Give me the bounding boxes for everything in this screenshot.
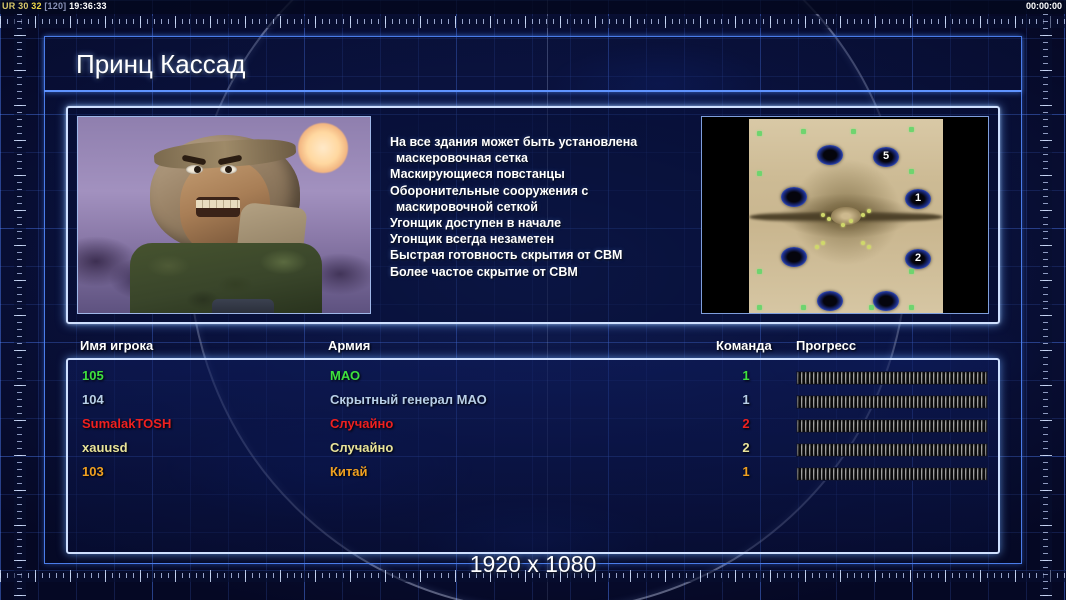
map-tech-marker (909, 169, 914, 174)
pupil-right (225, 166, 232, 173)
map-tech-marker (909, 305, 914, 310)
player-army: Скрытный генерал МАО (330, 392, 487, 407)
player-progress-bar (796, 467, 988, 481)
page-title: Принц Кассад (76, 49, 245, 80)
map-supply-marker (861, 213, 865, 217)
map-tech-marker (757, 269, 762, 274)
map-center-feature (831, 207, 861, 225)
general-info-panel: На все здания может быть установленамаск… (66, 106, 1000, 324)
ability-line: маскировочной сеткой (390, 199, 700, 215)
session-timer: 00:00:00 (1026, 1, 1062, 11)
ability-line: Угонщик доступен в начале (390, 215, 700, 231)
perf-value-1: 30 (18, 1, 28, 11)
player-table: 105МАО1104Скрытный генерал МАО1SumalakTO… (66, 358, 1000, 554)
map-spawn-point[interactable] (817, 145, 843, 165)
map-spawn-point[interactable] (781, 247, 807, 267)
player-name: xauusd (82, 440, 128, 455)
map-tech-marker (757, 171, 762, 176)
ruler-top (0, 16, 1066, 28)
map-supply-marker (849, 219, 853, 223)
player-army: Случайно (330, 416, 393, 431)
player-army: Китай (330, 464, 368, 479)
player-progress-bar (796, 371, 988, 385)
player-team: 1 (723, 464, 769, 479)
map-supply-marker (867, 245, 871, 249)
table-row[interactable]: 103Китай1 (68, 464, 998, 488)
ability-line: Более частое скрытие от СВМ (390, 264, 700, 280)
map-spawn-point[interactable]: 5 (873, 147, 899, 167)
weapon (212, 299, 274, 314)
teeth (196, 200, 240, 208)
player-progress-bar (796, 443, 988, 457)
player-progress-bar (796, 395, 988, 409)
player-team: 1 (723, 392, 769, 407)
perf-value-2: 32 (31, 1, 41, 11)
map-supply-marker (867, 209, 871, 213)
map-supply-marker (841, 223, 845, 227)
map-tech-marker (801, 305, 806, 310)
player-army: Случайно (330, 440, 393, 455)
ability-line: Маскирующиеся повстанцы (390, 166, 700, 182)
top-status-bar: UR 30 32 [120] 19:36:33 00:00:00 (0, 0, 1066, 14)
column-header-team[interactable]: Команда (716, 338, 772, 353)
ruler-left (14, 0, 26, 600)
map-spawn-point[interactable]: 1 (905, 189, 931, 209)
player-name: 104 (82, 392, 104, 407)
player-team: 2 (723, 440, 769, 455)
player-name: SumalakTOSH (82, 416, 171, 431)
map-tech-marker (851, 129, 856, 134)
ability-line: Угонщик всегда незаметен (390, 231, 700, 247)
ability-line: маскеровочная сетка (390, 150, 700, 166)
general-ability-list: На все здания может быть установленамаск… (390, 134, 700, 280)
map-tech-marker (909, 127, 914, 132)
system-clock: 19:36:33 (69, 1, 107, 11)
map-supply-marker (821, 213, 825, 217)
title-band: Принц Кассад (44, 36, 1022, 92)
map-preview[interactable]: 512 (701, 116, 989, 314)
mouth (196, 197, 240, 217)
player-team: 2 (723, 416, 769, 431)
table-row[interactable]: xauusdСлучайно2 (68, 440, 998, 464)
column-header-progress[interactable]: Прогресс (796, 338, 856, 353)
column-header-army[interactable]: Армия (328, 338, 370, 353)
map-tech-marker (869, 305, 874, 310)
map-supply-marker (861, 241, 865, 245)
ruler-right (1040, 0, 1052, 600)
player-team: 1 (723, 368, 769, 383)
map-supply-marker (827, 217, 831, 221)
player-army: МАО (330, 368, 360, 383)
table-row[interactable]: SumalakTOSHСлучайно2 (68, 416, 998, 440)
table-row[interactable]: 105МАО1 (68, 368, 998, 392)
map-supply-marker (815, 245, 819, 249)
perf-label: UR (2, 1, 15, 11)
resolution-label: 1920 x 1080 (0, 551, 1066, 578)
player-name: 105 (82, 368, 104, 383)
map-spawn-point[interactable]: 2 (905, 249, 931, 269)
pupil-left (194, 166, 201, 173)
map-terrain-image: 512 (749, 119, 943, 313)
ability-line: На все здания может быть установлена (390, 134, 700, 150)
perf-value-3: [120] (44, 1, 66, 11)
performance-readout: UR 30 32 [120] 19:36:33 (2, 1, 107, 11)
player-name: 103 (82, 464, 104, 479)
general-portrait (77, 116, 371, 314)
map-spawn-point[interactable] (817, 291, 843, 311)
ability-line: Быстрая готовность скрытия от СВМ (390, 247, 700, 263)
column-header-name[interactable]: Имя игрока (80, 338, 153, 353)
ability-line: Оборонительные сооружения с (390, 183, 700, 199)
map-tech-marker (757, 131, 762, 136)
map-spawn-point[interactable] (781, 187, 807, 207)
player-table-headers: Имя игрокаАрмияКомандаПрогресс (66, 338, 1000, 358)
map-tech-marker (757, 305, 762, 310)
player-progress-bar (796, 419, 988, 433)
table-row[interactable]: 104Скрытный генерал МАО1 (68, 392, 998, 416)
map-supply-marker (821, 241, 825, 245)
soldier-figure (124, 135, 324, 314)
map-tech-marker (909, 269, 914, 274)
map-spawn-point[interactable] (873, 291, 899, 311)
map-tech-marker (801, 129, 806, 134)
